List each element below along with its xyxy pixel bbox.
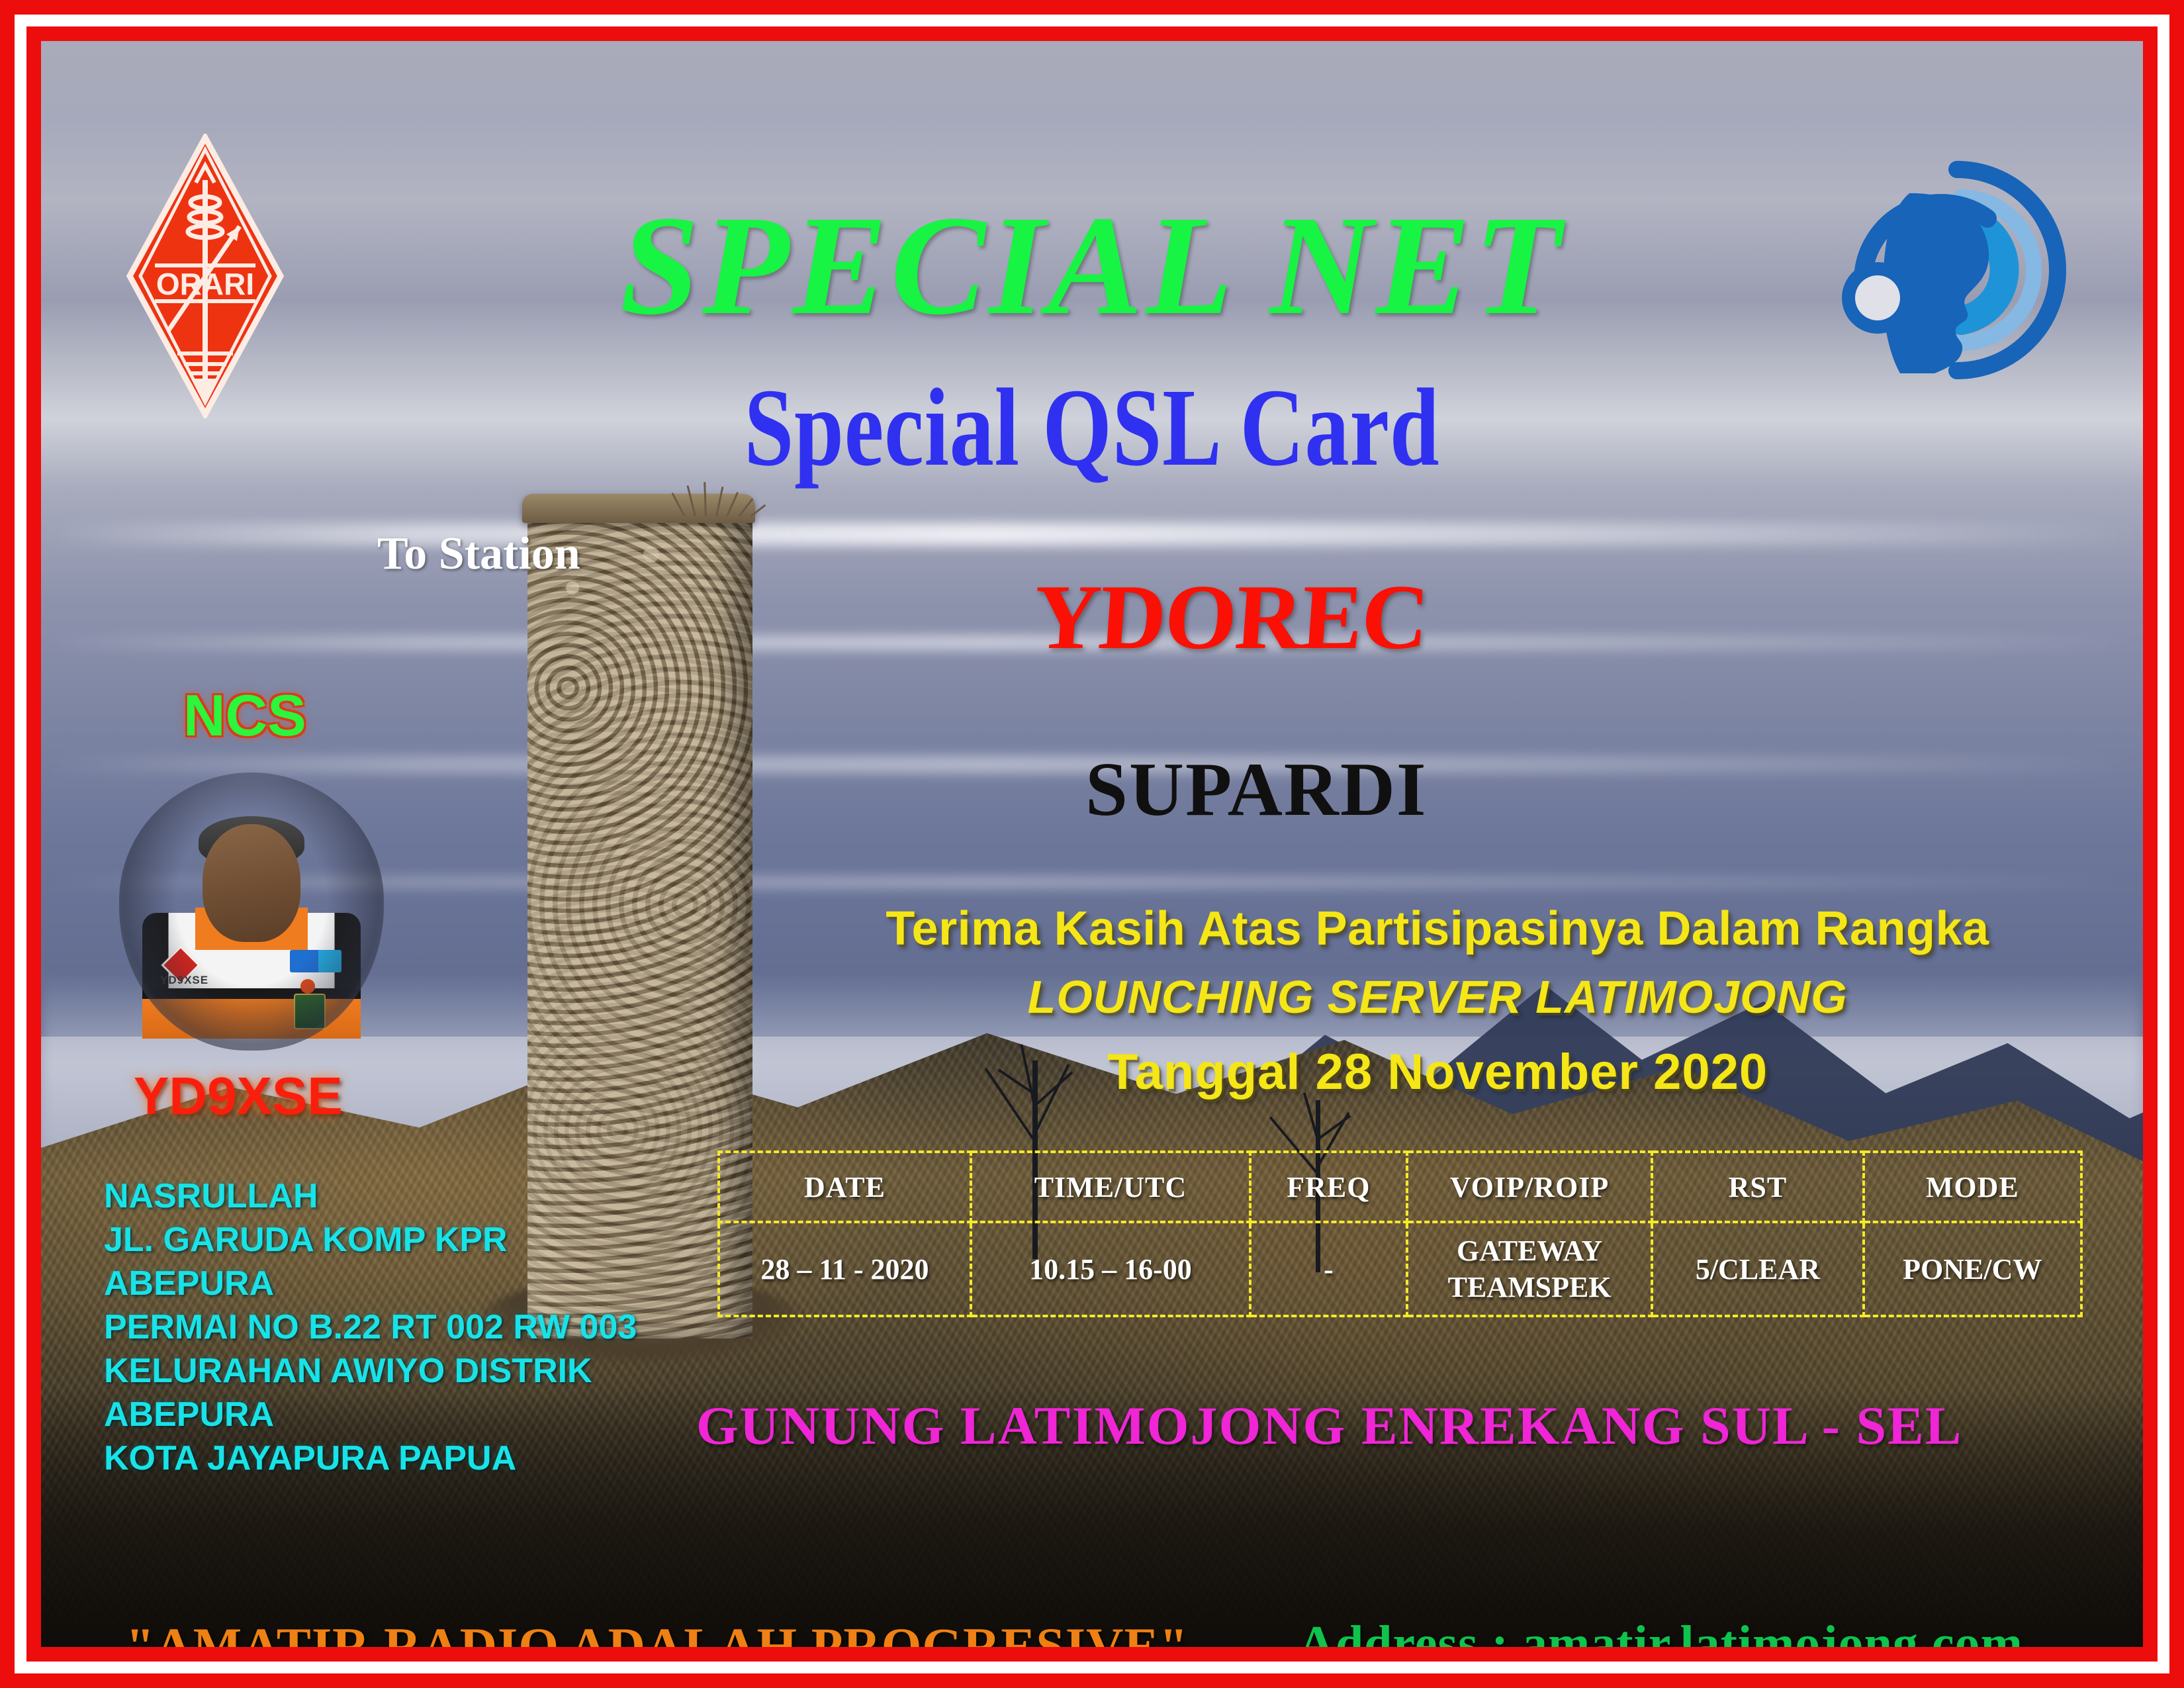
audio-headphone-logo	[1831, 140, 2096, 399]
location-caption: GUNUNG LATIMOJONG ENREKANG SUL - SEL	[696, 1395, 1962, 1457]
table-header-date: DATE	[719, 1152, 971, 1222]
cell-freq: -	[1250, 1222, 1407, 1316]
cell-voip: GATEWAY TEAMSPEK	[1407, 1222, 1653, 1316]
address-line: KELURAHAN AWIYO DISTRIK	[104, 1349, 637, 1393]
cell-date: 28 – 11 - 2020	[719, 1222, 971, 1316]
cell-rst: 5/CLEAR	[1652, 1222, 1863, 1316]
address-line: KOTA JAYAPURA PAPUA	[104, 1436, 637, 1480]
cell-voip-line-1: GATEWAY	[1408, 1233, 1651, 1269]
event-line-1: Terima Kasih Atas Partisipasinya Dalam R…	[832, 902, 2043, 956]
cloud-streak	[41, 523, 2143, 545]
cell-mode: PONE/CW	[1864, 1222, 2081, 1316]
address-line: NASRULLAH	[104, 1174, 637, 1218]
table-header-row: DATE TIME/UTC FREQ VOIP/ROIP RST MODE	[719, 1152, 2081, 1222]
orari-logo-text: ORARI	[156, 267, 254, 301]
event-line-3: Tanggal 28 November 2020	[832, 1043, 2043, 1101]
qsl-card-outer-border: ORARI	[0, 0, 2184, 1688]
qsl-card-background-photo: ORARI	[41, 41, 2143, 1647]
address-line: ABEPURA	[104, 1262, 637, 1305]
page-subtitle-text: Special QSL Card	[745, 364, 1440, 492]
orari-logo: ORARI	[126, 134, 285, 418]
table-header-voip: VOIP/ROIP	[1407, 1152, 1653, 1222]
event-message-block: Terima Kasih Atas Partisipasinya Dalam R…	[832, 902, 2043, 1101]
qso-details-table: DATE TIME/UTC FREQ VOIP/ROIP RST MODE 28…	[717, 1150, 2083, 1317]
page-title: SPECIAL NET	[620, 183, 1565, 348]
table-header-freq: FREQ	[1250, 1152, 1407, 1222]
to-station-label: To Station	[377, 528, 580, 581]
table-header-mode: MODE	[1864, 1152, 2081, 1222]
ncs-photo-vignette	[119, 773, 384, 1051]
cell-voip-line-2: TEAMSPEK	[1408, 1269, 1651, 1305]
recipient-callsign: YDOREC	[1030, 564, 1431, 671]
sender-address-block: NASRULLAH JL. GARUDA KOMP KPR ABEPURA PE…	[104, 1174, 637, 1480]
address-line: PERMAI NO B.22 RT 002 RW 003	[104, 1305, 637, 1349]
address-line: JL. GARUDA KOMP KPR	[104, 1218, 637, 1262]
ncs-label: NCS	[183, 682, 306, 749]
event-line-2: LOUNCHING SERVER LATIMOJONG	[832, 970, 2043, 1023]
ncs-callsign: YD9XSE	[134, 1066, 343, 1127]
table-row: 28 – 11 - 2020 10.15 – 16-00 - GATEWAY T…	[719, 1222, 2081, 1316]
table-header-time: TIME/UTC	[971, 1152, 1250, 1222]
ncs-operator-photo: YD9XSE	[119, 773, 384, 1051]
footer-website-address: Address : amatir.latimojong.com	[1298, 1615, 2023, 1647]
page-subtitle: Special QSL Card	[657, 364, 1527, 492]
recipient-operator-name: SUPARDI	[1085, 746, 1428, 833]
address-line: ABEPURA	[104, 1393, 637, 1436]
cell-time: 10.15 – 16-00	[971, 1222, 1250, 1316]
qsl-card-inner-border: ORARI	[26, 26, 2158, 1662]
footer-slogan: "AMATIR RADIO ADALAH PROGRESIVE"	[126, 1617, 1189, 1647]
qsl-card-white-gap: ORARI	[15, 15, 2169, 1673]
table-header-rst: RST	[1652, 1152, 1863, 1222]
